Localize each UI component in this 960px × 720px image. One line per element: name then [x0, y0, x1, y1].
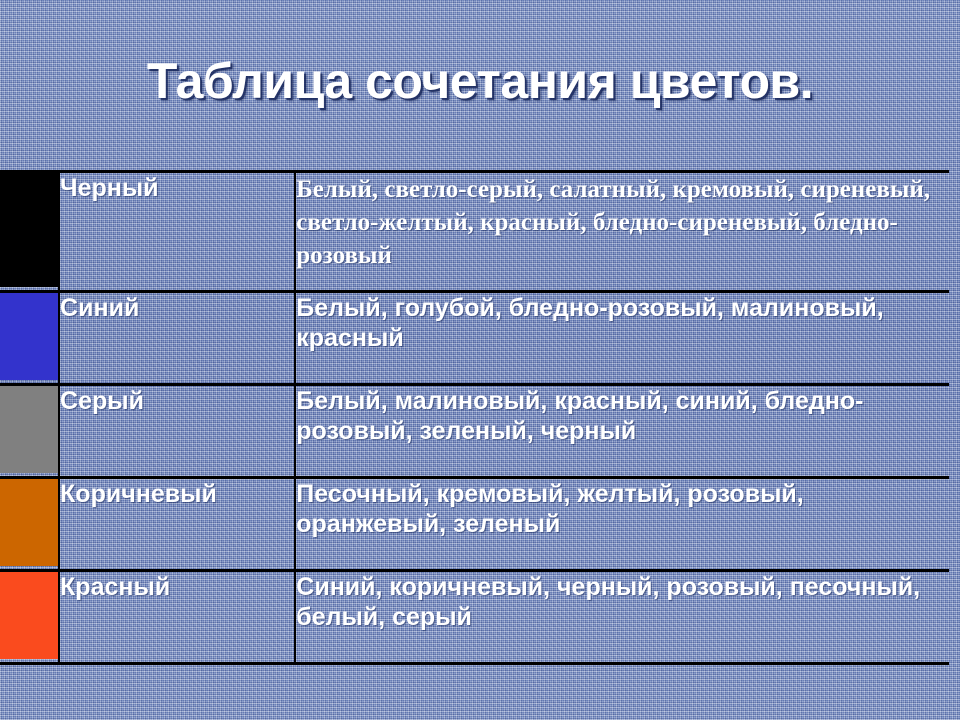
color-name-label: Красный: [60, 573, 170, 601]
table-row[interactable]: Коричневый Песочный, кремовый, желтый, р…: [0, 478, 949, 571]
color-name-label: Синий: [60, 294, 139, 322]
color-name-label: Коричневый: [60, 480, 217, 508]
color-description-cell: Песочный, кремовый, желтый, розовый, ора…: [295, 478, 949, 571]
gray-swatch: [0, 386, 58, 473]
table-row[interactable]: Красный Синий, коричневый, черный, розов…: [0, 571, 949, 664]
color-description-label: Песочный, кремовый, желтый, розовый, ора…: [296, 480, 803, 538]
swatch-cell: [0, 385, 59, 478]
black-swatch: [0, 173, 58, 287]
color-description-cell: Белый, голубой, бледно-розовый, малиновы…: [295, 292, 949, 385]
brown-swatch: [0, 479, 58, 566]
color-name-cell: Черный: [59, 172, 295, 292]
swatch-cell: [0, 292, 59, 385]
table-row[interactable]: Серый Белый, малиновый, красный, синий, …: [0, 385, 949, 478]
table-row[interactable]: Синий Белый, голубой, бледно-розовый, ма…: [0, 292, 949, 385]
color-description-cell: Белый, светло-серый, салатный, кремовый,…: [295, 172, 949, 292]
color-description-label: Белый, голубой, бледно-розовый, малиновы…: [296, 294, 883, 352]
color-description-label: Белый, светло-серый, салатный, кремовый,…: [296, 176, 930, 269]
red-swatch: [0, 572, 58, 659]
swatch-cell: [0, 478, 59, 571]
color-name-label: Черный: [60, 174, 159, 202]
blue-swatch: [0, 293, 58, 380]
color-name-cell: Серый: [59, 385, 295, 478]
color-description-label: Синий, коричневый, черный, розовый, песо…: [296, 573, 920, 631]
table-row[interactable]: Черный Белый, светло-серый, салатный, кр…: [0, 172, 949, 292]
page-title: Таблица сочетания цветов.: [0, 52, 960, 110]
color-name-label: Серый: [60, 387, 144, 415]
swatch-cell: [0, 571, 59, 664]
color-name-cell: Синий: [59, 292, 295, 385]
swatch-cell: [0, 172, 59, 292]
color-description-label: Белый, малиновый, красный, синий, бледно…: [296, 387, 863, 445]
color-description-cell: Белый, малиновый, красный, синий, бледно…: [295, 385, 949, 478]
color-combination-table: Черный Белый, светло-серый, салатный, кр…: [0, 170, 949, 665]
table-body: Черный Белый, светло-серый, салатный, кр…: [0, 172, 949, 664]
slide-canvas: Таблица сочетания цветов. Черный Белый, …: [0, 0, 960, 720]
color-name-cell: Красный: [59, 571, 295, 664]
color-name-cell: Коричневый: [59, 478, 295, 571]
color-description-cell: Синий, коричневый, черный, розовый, песо…: [295, 571, 949, 664]
